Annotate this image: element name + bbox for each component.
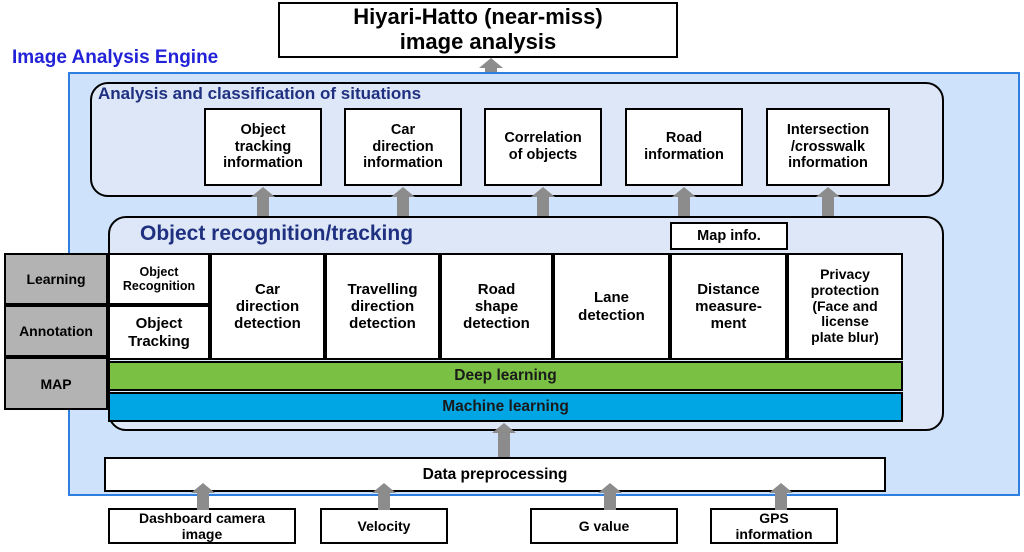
analysis-box-object-tracking[interactable]: Object tracking information: [204, 108, 322, 186]
cell-privacy-protection[interactable]: Privacy protection (Face and license pla…: [787, 253, 903, 360]
box-line2: tracking: [235, 139, 291, 155]
box-line1: Intersection: [787, 122, 869, 138]
arrow-preprocessing-to-recognition: [498, 432, 510, 457]
box-line2: of objects: [509, 147, 577, 163]
cell-distance-measurement[interactable]: Distance measure- ment: [670, 253, 787, 360]
sidebar-item-map[interactable]: MAP: [4, 357, 108, 410]
diagram-canvas: Hiyari-Hatto (near-miss) image analysis …: [0, 0, 1024, 552]
cell-car-direction-detection[interactable]: Car direction detection: [210, 253, 325, 360]
analysis-box-correlation-of-objects[interactable]: Correlation of objects: [484, 108, 602, 186]
page-title-line1: Hiyari-Hatto (near-miss): [353, 4, 602, 29]
arrow-g-value-to-preprocessing: [604, 492, 616, 510]
box-line3: information: [788, 155, 868, 171]
cell-travelling-direction-detection[interactable]: Travelling direction detection: [325, 253, 440, 360]
cell-object-recognition[interactable]: Object Recognition: [108, 253, 210, 305]
box-line2: direction: [372, 139, 433, 155]
analysis-classification-title: Analysis and classification of situation…: [98, 84, 421, 104]
input-velocity[interactable]: Velocity: [320, 508, 448, 544]
sidebar-item-learning[interactable]: Learning: [4, 253, 108, 305]
page-title: Hiyari-Hatto (near-miss) image analysis: [278, 2, 678, 58]
analysis-box-car-direction[interactable]: Car direction information: [344, 108, 462, 186]
map-info-box[interactable]: Map info.: [670, 222, 788, 250]
deep-learning-bar: Deep learning: [108, 361, 903, 391]
sidebar-item-annotation[interactable]: Annotation: [4, 305, 108, 357]
arrow-gps-to-preprocessing: [775, 492, 787, 510]
page-title-line2: image analysis: [400, 29, 557, 54]
box-line2: /crosswalk: [791, 139, 865, 155]
box-line1: Road: [666, 130, 702, 146]
box-line3: information: [223, 155, 303, 171]
cell-road-shape-detection[interactable]: Road shape detection: [440, 253, 553, 360]
box-line1: Car: [391, 122, 415, 138]
input-dashboard-camera-image[interactable]: Dashboard camera image: [108, 508, 296, 544]
input-g-value[interactable]: G value: [530, 508, 678, 544]
machine-learning-bar: Machine learning: [108, 392, 903, 422]
box-line2: information: [644, 147, 724, 163]
engine-label: Image Analysis Engine: [12, 47, 218, 69]
arrow-velocity-to-preprocessing: [378, 492, 390, 510]
object-recognition-title: Object recognition/tracking: [140, 222, 413, 246]
arrow-dashboard-camera-to-preprocessing: [197, 492, 209, 510]
box-line1: Correlation: [504, 130, 581, 146]
box-line3: information: [363, 155, 443, 171]
cell-lane-detection[interactable]: Lane detection: [553, 253, 670, 360]
analysis-box-road-information[interactable]: Road information: [625, 108, 743, 186]
cell-object-tracking[interactable]: Object Tracking: [108, 305, 210, 360]
analysis-box-intersection-crosswalk[interactable]: Intersection /crosswalk information: [766, 108, 890, 186]
input-gps-information[interactable]: GPS information: [710, 508, 838, 544]
box-line1: Object: [240, 122, 285, 138]
